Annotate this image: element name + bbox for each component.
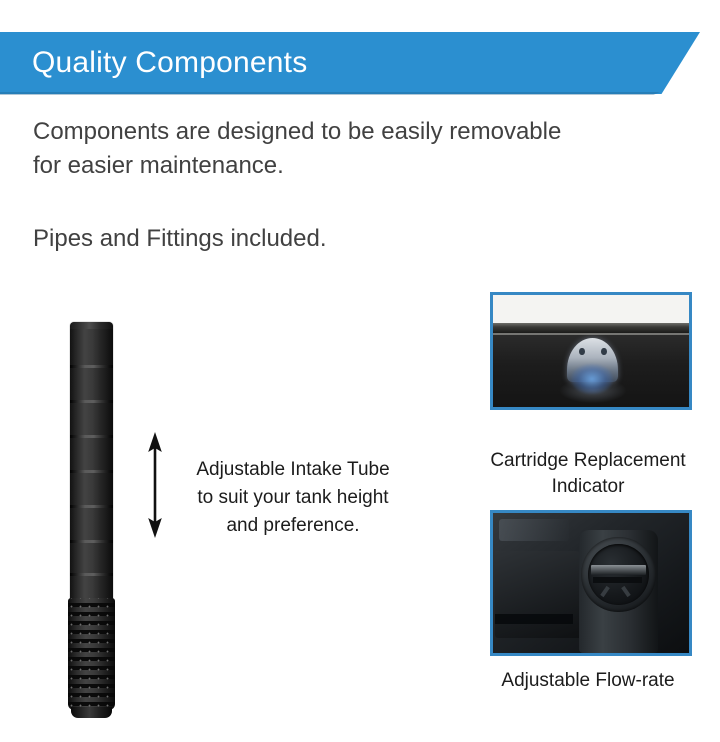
tube-ring <box>70 400 113 403</box>
caption-line-1: Adjustable Flow-rate <box>466 668 710 694</box>
tube-foot <box>71 707 112 718</box>
intake-tube-annotation: Adjustable Intake Tube to suit your tank… <box>172 456 414 540</box>
photo-background-upper <box>493 295 689 324</box>
intro-paragraph-2: Pipes and Fittings included. <box>33 222 593 256</box>
adjustable-intake-tube-photo <box>62 318 126 720</box>
tube-ring <box>70 540 113 543</box>
annotation-line-1: Adjustable Intake Tube <box>172 456 414 484</box>
housing-highlight <box>499 519 570 541</box>
tube-ring <box>70 435 113 438</box>
tube-ring <box>70 573 113 576</box>
header-banner-shadow <box>0 92 660 95</box>
quality-components-infographic: Quality Components Components are design… <box>0 0 720 742</box>
tube-cap <box>70 322 113 329</box>
annotation-line-2: to suit your tank height <box>172 484 414 512</box>
intro-paragraph-1: Components are designed to be easily rem… <box>33 115 593 183</box>
caption-line-2: Indicator <box>466 474 710 500</box>
flow-dial-slot-shadow <box>593 577 642 583</box>
flow-dial-slot <box>591 565 646 575</box>
indicator-light-glow <box>571 364 612 393</box>
annotation-line-3: and preference. <box>172 512 414 540</box>
tube-body <box>70 322 113 600</box>
tube-strainer-perforations <box>68 598 115 710</box>
housing-plate-edge <box>495 614 573 624</box>
page-title: Quality Components <box>32 44 307 82</box>
cartridge-replacement-indicator-photo <box>490 292 692 410</box>
indicator-port-right <box>601 348 607 356</box>
tube-ring <box>70 365 113 368</box>
double-headed-vertical-arrow-icon <box>146 432 164 538</box>
cartridge-replacement-indicator-caption: Cartridge Replacement Indicator <box>466 448 710 500</box>
adjustable-flow-rate-valve-photo <box>490 510 692 656</box>
caption-line-1: Cartridge Replacement <box>466 448 710 474</box>
adjustable-flow-rate-caption: Adjustable Flow-rate <box>466 668 710 694</box>
tube-ring <box>70 470 113 473</box>
flow-dial-face <box>588 544 649 606</box>
tube-ring <box>70 505 113 508</box>
housing-plate <box>495 551 585 638</box>
